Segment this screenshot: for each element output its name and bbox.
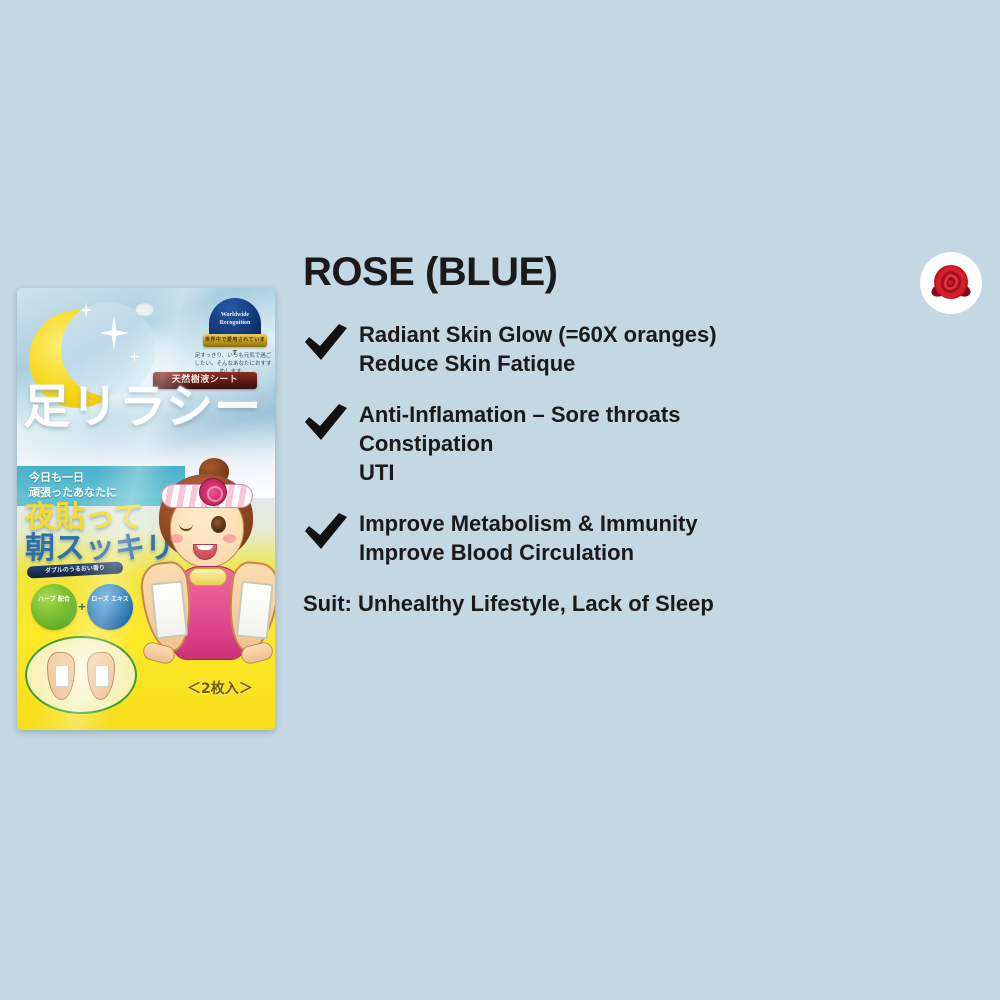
- mascot-eye: [211, 516, 226, 533]
- benefit-item: Anti-Inflamation – Sore throats Constipa…: [303, 400, 903, 487]
- suit-description: Suit: Unhealthy Lifestyle, Lack of Sleep: [303, 589, 903, 618]
- mascot-rose-icon: [199, 478, 227, 506]
- benefit-line: Improve Blood Circulation: [359, 538, 698, 567]
- benefit-text: Anti-Inflamation – Sore throats Constipa…: [359, 400, 680, 487]
- benefit-text: Improve Metabolism & Immunity Improve Bl…: [359, 509, 698, 567]
- package-hang-hole: [135, 302, 154, 316]
- benefit-item: Improve Metabolism & Immunity Improve Bl…: [303, 509, 903, 567]
- benefit-line: Anti-Inflamation – Sore throats: [359, 400, 680, 429]
- checkmark-icon: [303, 509, 359, 556]
- benefit-line: Reduce Skin Fatique: [359, 349, 717, 378]
- foot-illustration: [87, 652, 115, 700]
- ingredient-herb-label: ハーブ 配合: [31, 584, 77, 604]
- rose-badge: [920, 252, 982, 314]
- mascot-cheek-blush: [223, 534, 236, 543]
- ingredient-rose-badge: ローズ エキス: [87, 584, 133, 630]
- tagline-small-line-1: 今日も一日: [29, 471, 84, 484]
- package-quantity-text: ＜2枚入＞: [187, 678, 275, 698]
- benefit-line: Improve Metabolism & Immunity: [359, 509, 698, 538]
- benefit-line: Constipation: [359, 429, 680, 458]
- benefit-text: Radiant Skin Glow (=60X oranges) Reduce …: [359, 320, 717, 378]
- mascot-collar: [189, 568, 227, 586]
- seal-line-2: Recognition: [220, 320, 251, 326]
- foot-patch-sheet: [150, 580, 188, 639]
- product-package-image: Worldwide Recognition 世界中で愛用されています 足すっきり…: [17, 288, 275, 730]
- checkmark-icon: [303, 320, 359, 367]
- tagline-small-line-2: 頑張ったあなたに: [29, 486, 117, 499]
- feet-diagram-illustration: [25, 636, 137, 714]
- ingredient-rose-label: ローズ エキス: [87, 584, 133, 604]
- rose-icon: [928, 260, 974, 306]
- worldwide-recognition-seal-icon: Worldwide Recognition 世界中で愛用されています: [203, 298, 267, 350]
- mascot-cheek-blush: [170, 534, 183, 543]
- tagline-big-line-1: 夜貼って: [25, 500, 144, 535]
- product-promo-canvas: Worldwide Recognition 世界中で愛用されています 足すっきり…: [0, 0, 1000, 1000]
- page-title: ROSE (BLUE): [303, 248, 903, 296]
- foot-illustration: [47, 652, 75, 700]
- benefit-line: Radiant Skin Glow (=60X oranges): [359, 320, 717, 349]
- seal-line-1: Worldwide: [221, 312, 249, 318]
- marketing-copy-column: ROSE (BLUE) Radiant Skin Glow (=60X oran…: [303, 248, 903, 618]
- foot-patch-sheet: [236, 581, 274, 640]
- checkmark-icon: [303, 400, 359, 447]
- benefit-line: UTI: [359, 458, 680, 487]
- benefit-item: Radiant Skin Glow (=60X oranges) Reduce …: [303, 320, 903, 378]
- package-brand-name: 足リラシート: [23, 384, 273, 431]
- ingredient-herb-badge: ハーブ 配合: [31, 584, 77, 630]
